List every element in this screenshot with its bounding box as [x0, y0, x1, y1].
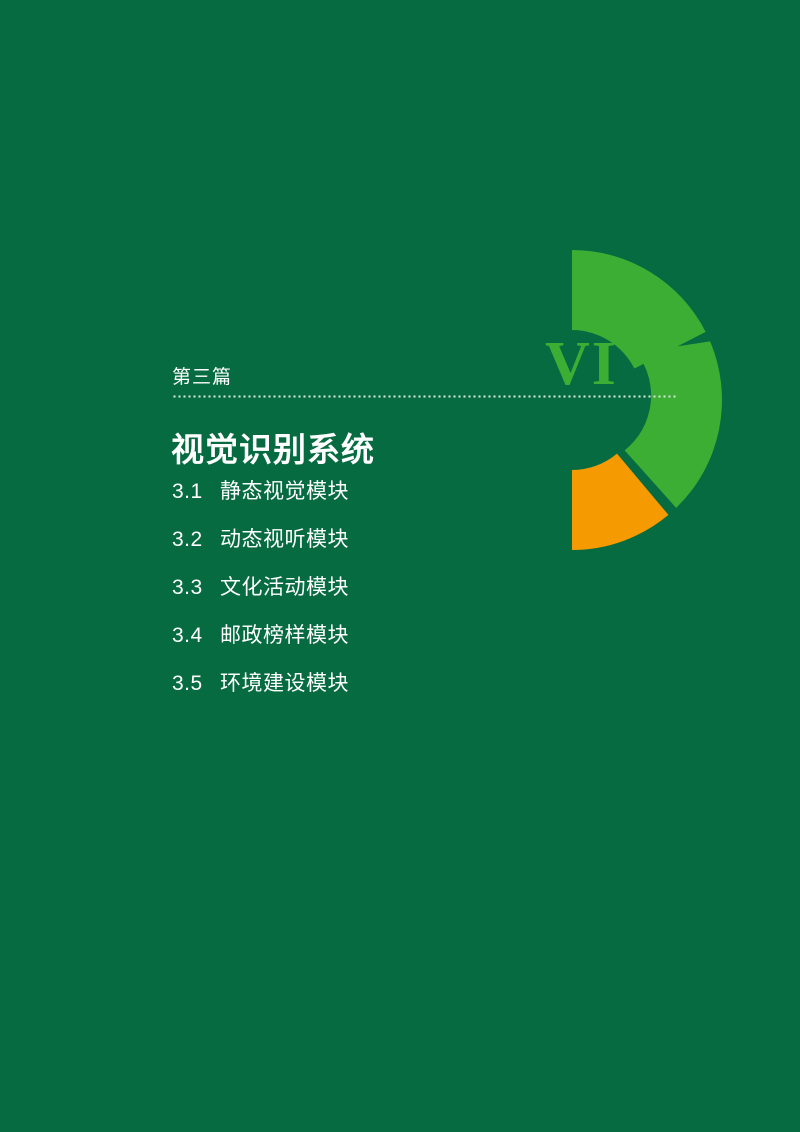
toc-item-3-3[interactable]: 3.3 文化活动模块: [172, 564, 592, 612]
dotted-divider: [172, 395, 678, 398]
toc-item-label: 文化活动模块: [220, 564, 349, 612]
toc-item-label: 邮政榜样模块: [220, 612, 349, 660]
toc-item-number: 3.5: [172, 660, 220, 708]
toc-item-3-2[interactable]: 3.2 动态视听模块: [172, 516, 592, 564]
toc-item-number: 3.4: [172, 612, 220, 660]
toc-item-3-4[interactable]: 3.4 邮政榜样模块: [172, 612, 592, 660]
toc-item-label: 静态视觉模块: [220, 468, 349, 516]
toc-item-number: 3.3: [172, 564, 220, 612]
part-label: 第三篇: [172, 366, 232, 390]
toc-item-label: 环境建设模块: [220, 660, 349, 708]
toc-item-label: 动态视听模块: [220, 516, 349, 564]
section-cover-page: VI 第三篇 视觉识别系统 3.1 静态视觉模块 3.2 动态视听模块 3.3 …: [0, 0, 800, 1132]
toc-item-number: 3.2: [172, 516, 220, 564]
roman-numeral-label: VI: [545, 333, 655, 395]
toc-list: 3.1 静态视觉模块 3.2 动态视听模块 3.3 文化活动模块 3.4 邮政榜…: [172, 468, 592, 708]
toc-item-3-5[interactable]: 3.5 环境建设模块: [172, 660, 592, 708]
page-title: 视觉识别系统: [171, 429, 375, 471]
toc-item-3-1[interactable]: 3.1 静态视觉模块: [172, 468, 592, 516]
toc-item-number: 3.1: [172, 468, 220, 516]
